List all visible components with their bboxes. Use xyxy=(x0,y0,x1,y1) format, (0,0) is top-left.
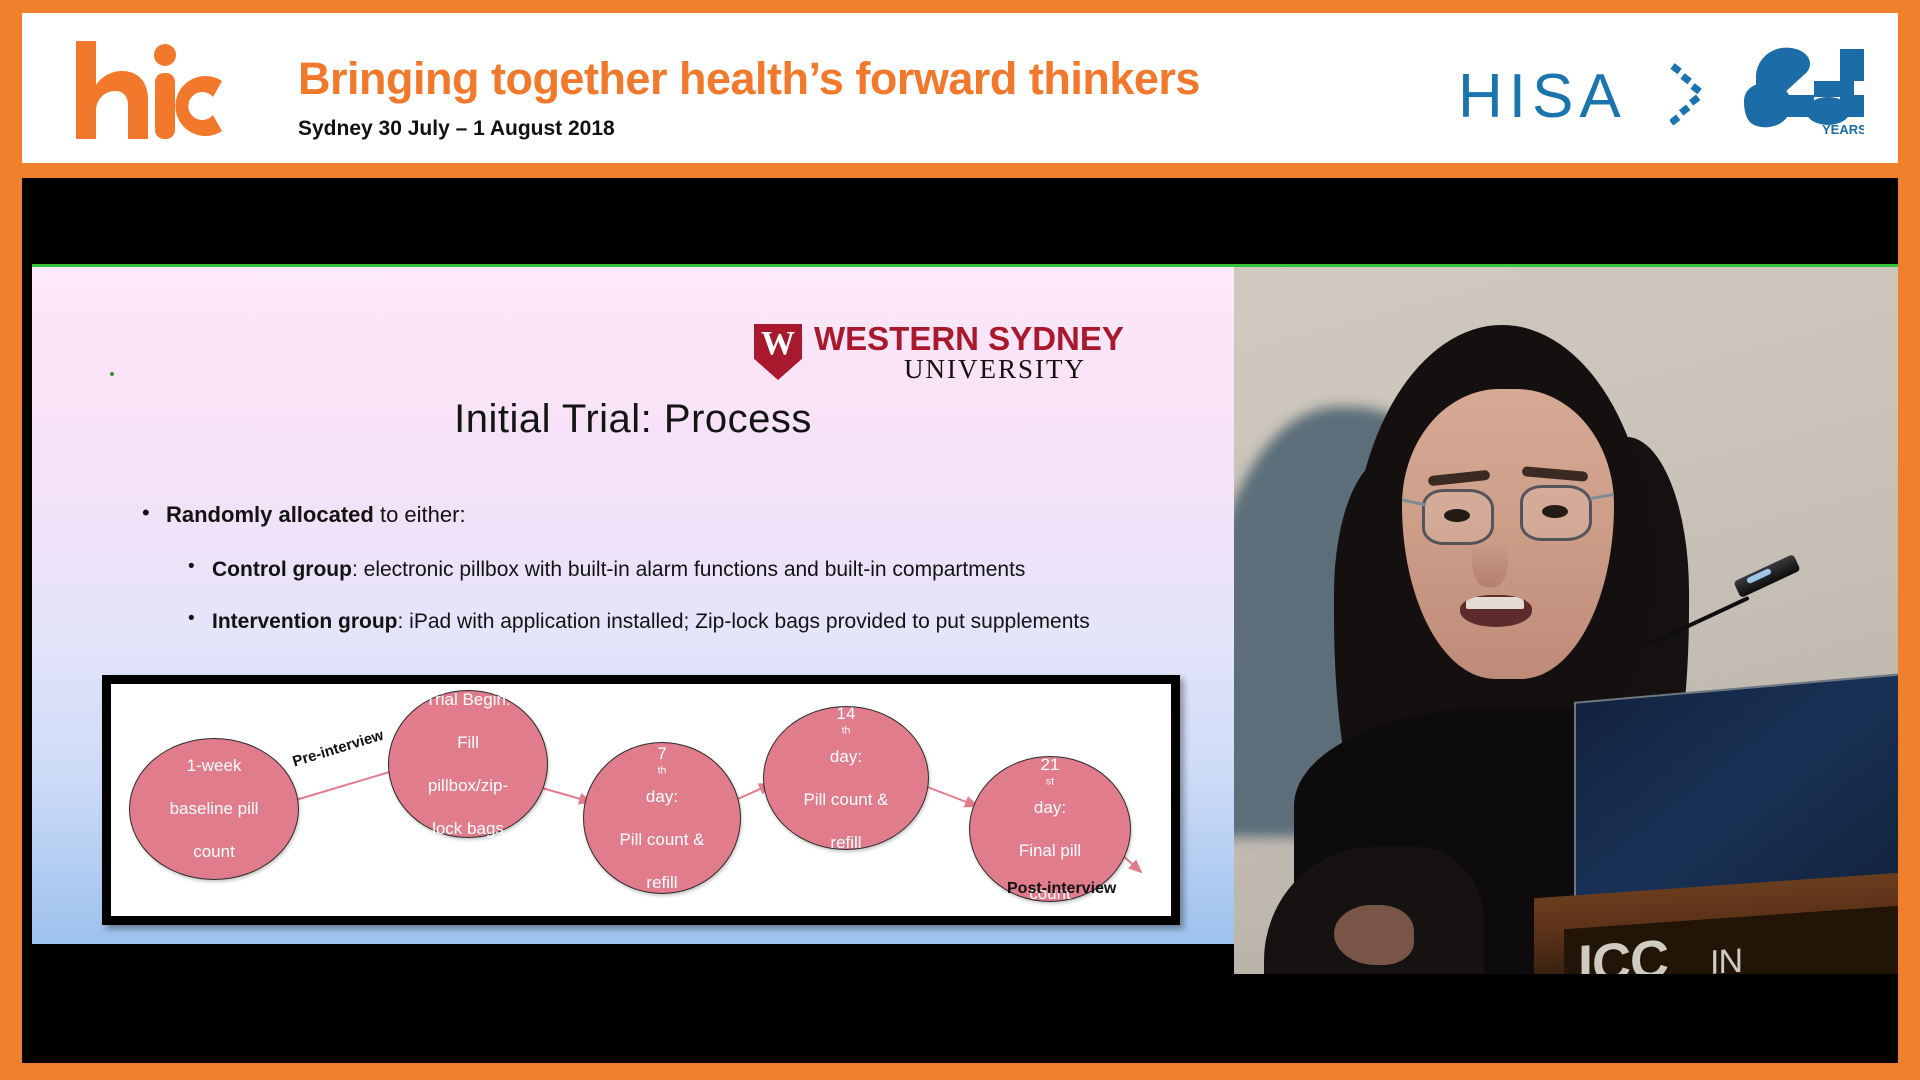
node-line: refill xyxy=(613,872,710,893)
orange-page-frame: Bringing together health’s forward think… xyxy=(0,0,1920,1080)
node-line: Trial Begin: xyxy=(419,689,516,710)
node-line: baseline pill xyxy=(164,798,265,819)
node-line: day: xyxy=(797,746,894,767)
eye-right xyxy=(1542,505,1568,518)
face xyxy=(1402,389,1614,679)
flow-diagram-frame: 1-week baseline pill count Trial Begin: … xyxy=(102,675,1180,925)
bullet-rest: : iPad with application installed; Zip-l… xyxy=(398,610,1090,633)
node-line: Pill count & xyxy=(613,829,710,850)
edge-label-post-interview: Post-interview xyxy=(1007,880,1116,898)
wsu-shield-icon: W xyxy=(754,324,802,380)
presentation-slide: W WESTERN SYDNEY UNIVERSITY Initial Tria… xyxy=(32,264,1234,944)
slide-bullet-list: Randomly allocated to either: Control gr… xyxy=(140,502,1174,662)
bullet-rest: to either: xyxy=(374,502,466,527)
video-stage: W WESTERN SYDNEY UNIVERSITY Initial Tria… xyxy=(22,178,1898,1063)
venue-sign-secondary: IN xyxy=(1710,942,1742,974)
eye-left xyxy=(1444,509,1470,522)
header-title-group: Bringing together health’s forward think… xyxy=(298,53,1200,141)
wsu-shield-letter: W xyxy=(761,324,795,363)
conference-title: Bringing together health’s forward think… xyxy=(298,53,1200,105)
chevron-dashes-icon xyxy=(1670,59,1726,125)
years-label: YEARS xyxy=(1822,122,1864,137)
venue-sign-primary: ICC xyxy=(1578,929,1668,974)
bullet-rest: : electronic pillbox with built-in alarm… xyxy=(352,558,1025,581)
flow-node-day7: 7th day: Pill count & refill xyxy=(583,742,741,894)
node-line: day: xyxy=(613,786,710,807)
venue-sign-text: ICC IN xyxy=(1578,923,1742,974)
25-years-badge-icon: YEARS xyxy=(1736,41,1864,137)
eyebrow-right xyxy=(1522,466,1589,482)
eyebrow-left xyxy=(1428,470,1491,486)
bullet-level1: Randomly allocated to either: xyxy=(140,502,1174,528)
slide-title: Initial Trial: Process xyxy=(32,397,1234,442)
node-line: 14 xyxy=(797,703,894,724)
slide-artifact-dot xyxy=(110,372,114,376)
glasses-temple-right xyxy=(1590,493,1614,500)
flow-node-day14: 14th day: Pill count & refill xyxy=(763,706,929,850)
presenter-video: ICC IN xyxy=(1234,264,1898,974)
node-line: Pill count & xyxy=(797,789,894,810)
node-line: day: xyxy=(1013,797,1087,818)
mouth xyxy=(1460,595,1532,627)
flow-node-baseline: 1-week baseline pill count xyxy=(129,738,299,880)
bullet-bold-lead: Randomly allocated xyxy=(166,502,374,527)
node-ordinal-suffix: th xyxy=(842,725,851,737)
node-line: Fill xyxy=(419,732,516,753)
conference-dates: Sydney 30 July – 1 August 2018 xyxy=(298,117,1200,141)
flow-node-trial-begin: Trial Begin: Fill pillbox/zip- lock bags xyxy=(388,690,548,838)
node-line: pillbox/zip- xyxy=(419,775,516,796)
node-line: lock bags xyxy=(419,818,516,839)
bullet-bold-lead: Control group xyxy=(212,558,352,581)
hisa-wordmark: HISA xyxy=(1458,61,1627,132)
node-line: 7 xyxy=(613,743,710,764)
node-ordinal-suffix: st xyxy=(1046,776,1054,788)
wsu-name: WESTERN SYDNEY xyxy=(814,320,1124,358)
western-sydney-university-logo: W WESTERN SYDNEY UNIVERSITY xyxy=(754,322,1114,384)
wsu-subname: UNIVERSITY xyxy=(904,354,1086,385)
hisa-logo: HISA YEARS xyxy=(1458,39,1868,139)
node-line: Final pill xyxy=(1013,840,1087,861)
node-line: 1-week xyxy=(164,755,265,776)
bullet-bold-lead: Intervention group xyxy=(212,610,398,633)
hic-logo xyxy=(62,35,227,145)
node-line: 21 xyxy=(1013,754,1087,775)
hand xyxy=(1334,905,1414,965)
flow-diagram: 1-week baseline pill count Trial Begin: … xyxy=(111,684,1171,916)
bullet-level2: Control group: electronic pillbox with b… xyxy=(186,558,1174,582)
node-ordinal-suffix: th xyxy=(658,765,667,777)
teeth xyxy=(1466,597,1524,609)
node-line: count xyxy=(164,841,265,862)
conference-header: Bringing together health’s forward think… xyxy=(22,13,1898,163)
node-line: refill xyxy=(797,832,894,853)
bullet-level2: Intervention group: iPad with applicatio… xyxy=(186,610,1174,634)
nose xyxy=(1472,525,1508,587)
